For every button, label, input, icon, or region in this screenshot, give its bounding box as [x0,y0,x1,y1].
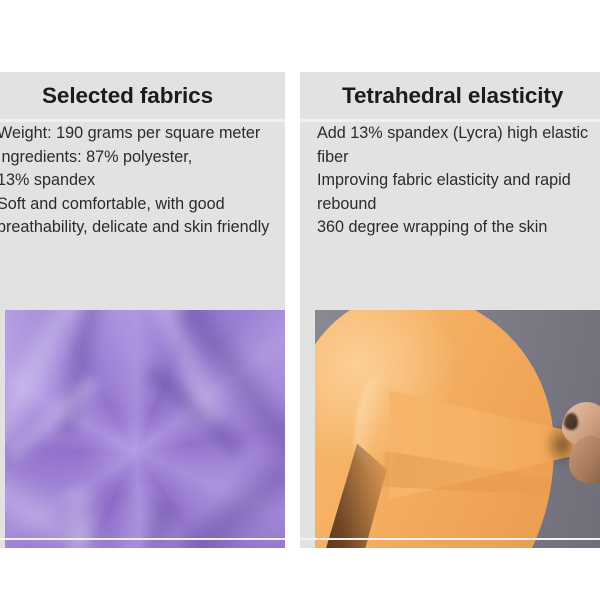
panel-tetrahedral-elasticity: Tetrahedral elasticity Add 13% spandex (… [300,72,600,548]
card-bottom-divider [0,538,285,540]
body-line: Add 13% spandex (Lycra) high elastic [317,122,600,146]
fabric-fold [109,497,186,548]
fabric-fold [5,435,101,548]
body-line: Ingredients: 87% polyester, [0,146,280,170]
panel-body-selected-fabrics: Weight: 190 grams per square meter Ingre… [0,122,282,240]
body-line: 13% spandex [0,169,280,193]
panel-selected-fabrics: Selected fabrics Weight: 190 grams per s… [0,72,285,548]
panel-title-selected-fabrics: Selected fabrics [0,72,285,119]
body-line: fiber [317,146,600,170]
pinching-hand [552,402,600,488]
body-line: Soft and comfortable, with good [0,193,280,217]
body-line: Improving fabric elasticity and rapid [317,169,600,193]
body-line: rebound [317,193,600,217]
body-line: Weight: 190 grams per square meter [0,122,280,146]
panel-body-tetrahedral-elasticity: Add 13% spandex (Lycra) high elastic fib… [300,122,600,240]
panel-title-tetrahedral-elasticity: Tetrahedral elasticity [300,72,600,119]
panel-title-bar: Selected fabrics [0,72,285,119]
fabric-fold [139,359,249,463]
panel-title-bar: Tetrahedral elasticity [300,72,600,119]
body-line: 360 degree wrapping of the skin [317,216,600,240]
fabric-fold [5,370,105,468]
fabric-texture-purple [5,310,285,548]
body-line: breathability, delicate and skin friendl… [0,216,280,240]
fabric-fold [141,450,285,548]
fingernail [564,413,578,431]
fabric-fold [5,310,104,454]
fabric-fold [48,310,118,438]
infographic-canvas: Selected fabrics Weight: 190 grams per s… [0,0,600,600]
fabric-texture-orange [315,310,600,548]
purple-swirled-fabric-photo [5,310,285,548]
fabric-fold [167,310,285,473]
orange-fabric-stretch-photo [315,310,600,548]
fabric-fold [132,310,233,432]
card-bottom-divider [300,538,600,540]
